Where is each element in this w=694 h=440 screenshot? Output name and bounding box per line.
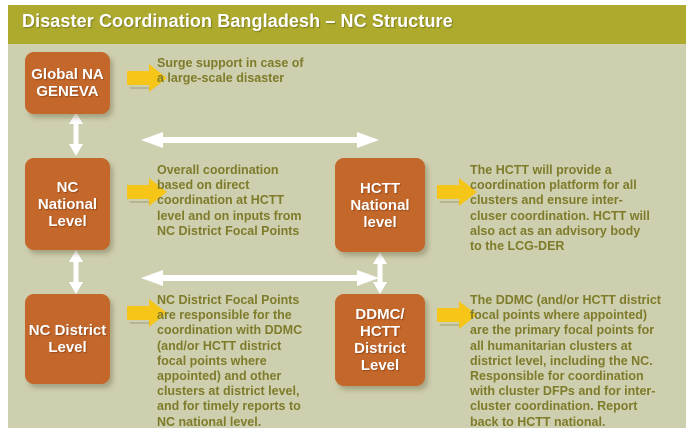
diagram-canvas: Disaster Coordination Bangladesh – NC St… bbox=[0, 0, 694, 440]
text-nc-district-focal-points: NC District Focal Points are responsible… bbox=[157, 293, 332, 430]
box-global-na-geneva-label: Global NA GENEVA bbox=[27, 66, 108, 100]
box-hctt-national-level-label: HCTT National level bbox=[337, 180, 423, 231]
box-nc-national-level[interactable]: NC National Level bbox=[25, 158, 110, 250]
box-global-na-geneva[interactable]: Global NA GENEVA bbox=[25, 52, 110, 114]
box-hctt-national-level[interactable]: HCTT National level bbox=[335, 158, 425, 252]
horizontal-double-arrow-lower bbox=[141, 268, 379, 288]
vertical-double-arrow-global-to-nc-national bbox=[67, 112, 85, 156]
page-title: Disaster Coordination Bangladesh – NC St… bbox=[22, 11, 453, 32]
text-overall-coordination: Overall coordination based on direct coo… bbox=[157, 163, 332, 239]
box-nc-national-level-label: NC National Level bbox=[27, 179, 108, 230]
box-ddmc-hctt-district-level[interactable]: DDMC/ HCTT District Level bbox=[335, 294, 425, 386]
box-nc-district-level[interactable]: NC District Level bbox=[25, 294, 110, 384]
text-ddmc-focal-points: The DDMC (and/or HCTT district focal poi… bbox=[470, 293, 688, 430]
box-nc-district-level-label: NC District Level bbox=[27, 322, 108, 356]
box-ddmc-hctt-district-level-label: DDMC/ HCTT District Level bbox=[337, 306, 423, 374]
vertical-double-arrow-nc-national-to-nc-district bbox=[67, 250, 85, 294]
text-hctt-platform: The HCTT will provide a coordination pla… bbox=[470, 163, 685, 254]
horizontal-double-arrow-upper bbox=[141, 130, 379, 150]
text-surge-support: Surge support in case of a large-scale d… bbox=[157, 56, 337, 86]
